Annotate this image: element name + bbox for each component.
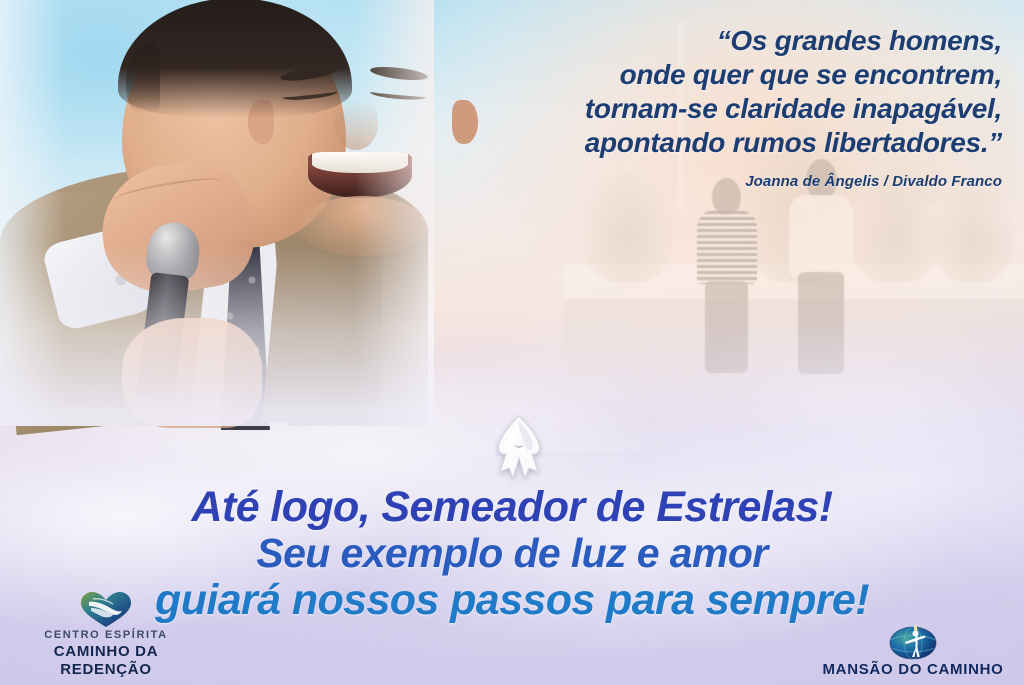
- portrait-hand-holding-microphone: [122, 318, 262, 428]
- quote-line-1: “Os grandes homens,: [402, 24, 1002, 58]
- quote-line-4: apontando rumos libertadores.”: [402, 126, 1002, 160]
- heart-hands-icon: [8, 591, 204, 629]
- logo-centro-espirita[interactable]: CENTRO ESPÍRITA CAMINHO DA REDENÇÃO: [8, 591, 204, 679]
- white-ribbon-icon: [487, 410, 551, 486]
- portrait-smiling-mouth: [308, 152, 412, 198]
- quote-line-3: tornam-se claridade inapagável,: [402, 92, 1002, 126]
- quote-block: “Os grandes homens, onde quer que se enc…: [402, 24, 1002, 190]
- portrait-divaldo-franco: [0, 0, 434, 426]
- logo-left-line-1: CENTRO ESPÍRITA: [8, 629, 204, 643]
- scene-person-torso: [789, 195, 854, 275]
- scene-tree: [932, 179, 1015, 282]
- quote-attribution: Joanna de Ângelis / Divaldo Franco: [402, 173, 1002, 190]
- logo-mansao-do-caminho[interactable]: MANSÃO DO CAMINHO: [810, 621, 1016, 679]
- portrait-hair: [118, 0, 352, 118]
- portrait-nose: [334, 98, 378, 150]
- portrait-chin: [298, 196, 426, 256]
- logo-left-line-2: CAMINHO DA REDENÇÃO: [8, 643, 204, 679]
- globe-figure-flame-icon: [810, 621, 1016, 659]
- poster-canvas: “Os grandes homens, onde quer que se enc…: [0, 0, 1024, 685]
- portrait-teeth: [312, 152, 408, 173]
- headline-line-1: Até logo, Semeador de Estrelas!: [0, 485, 1024, 529]
- logo-right-line-1: MANSÃO DO CAMINHO: [810, 661, 1016, 679]
- quote-line-2: onde quer que se encontrem,: [402, 58, 1002, 92]
- headline-line-2: Seu exemplo de luz e amor: [0, 532, 1024, 574]
